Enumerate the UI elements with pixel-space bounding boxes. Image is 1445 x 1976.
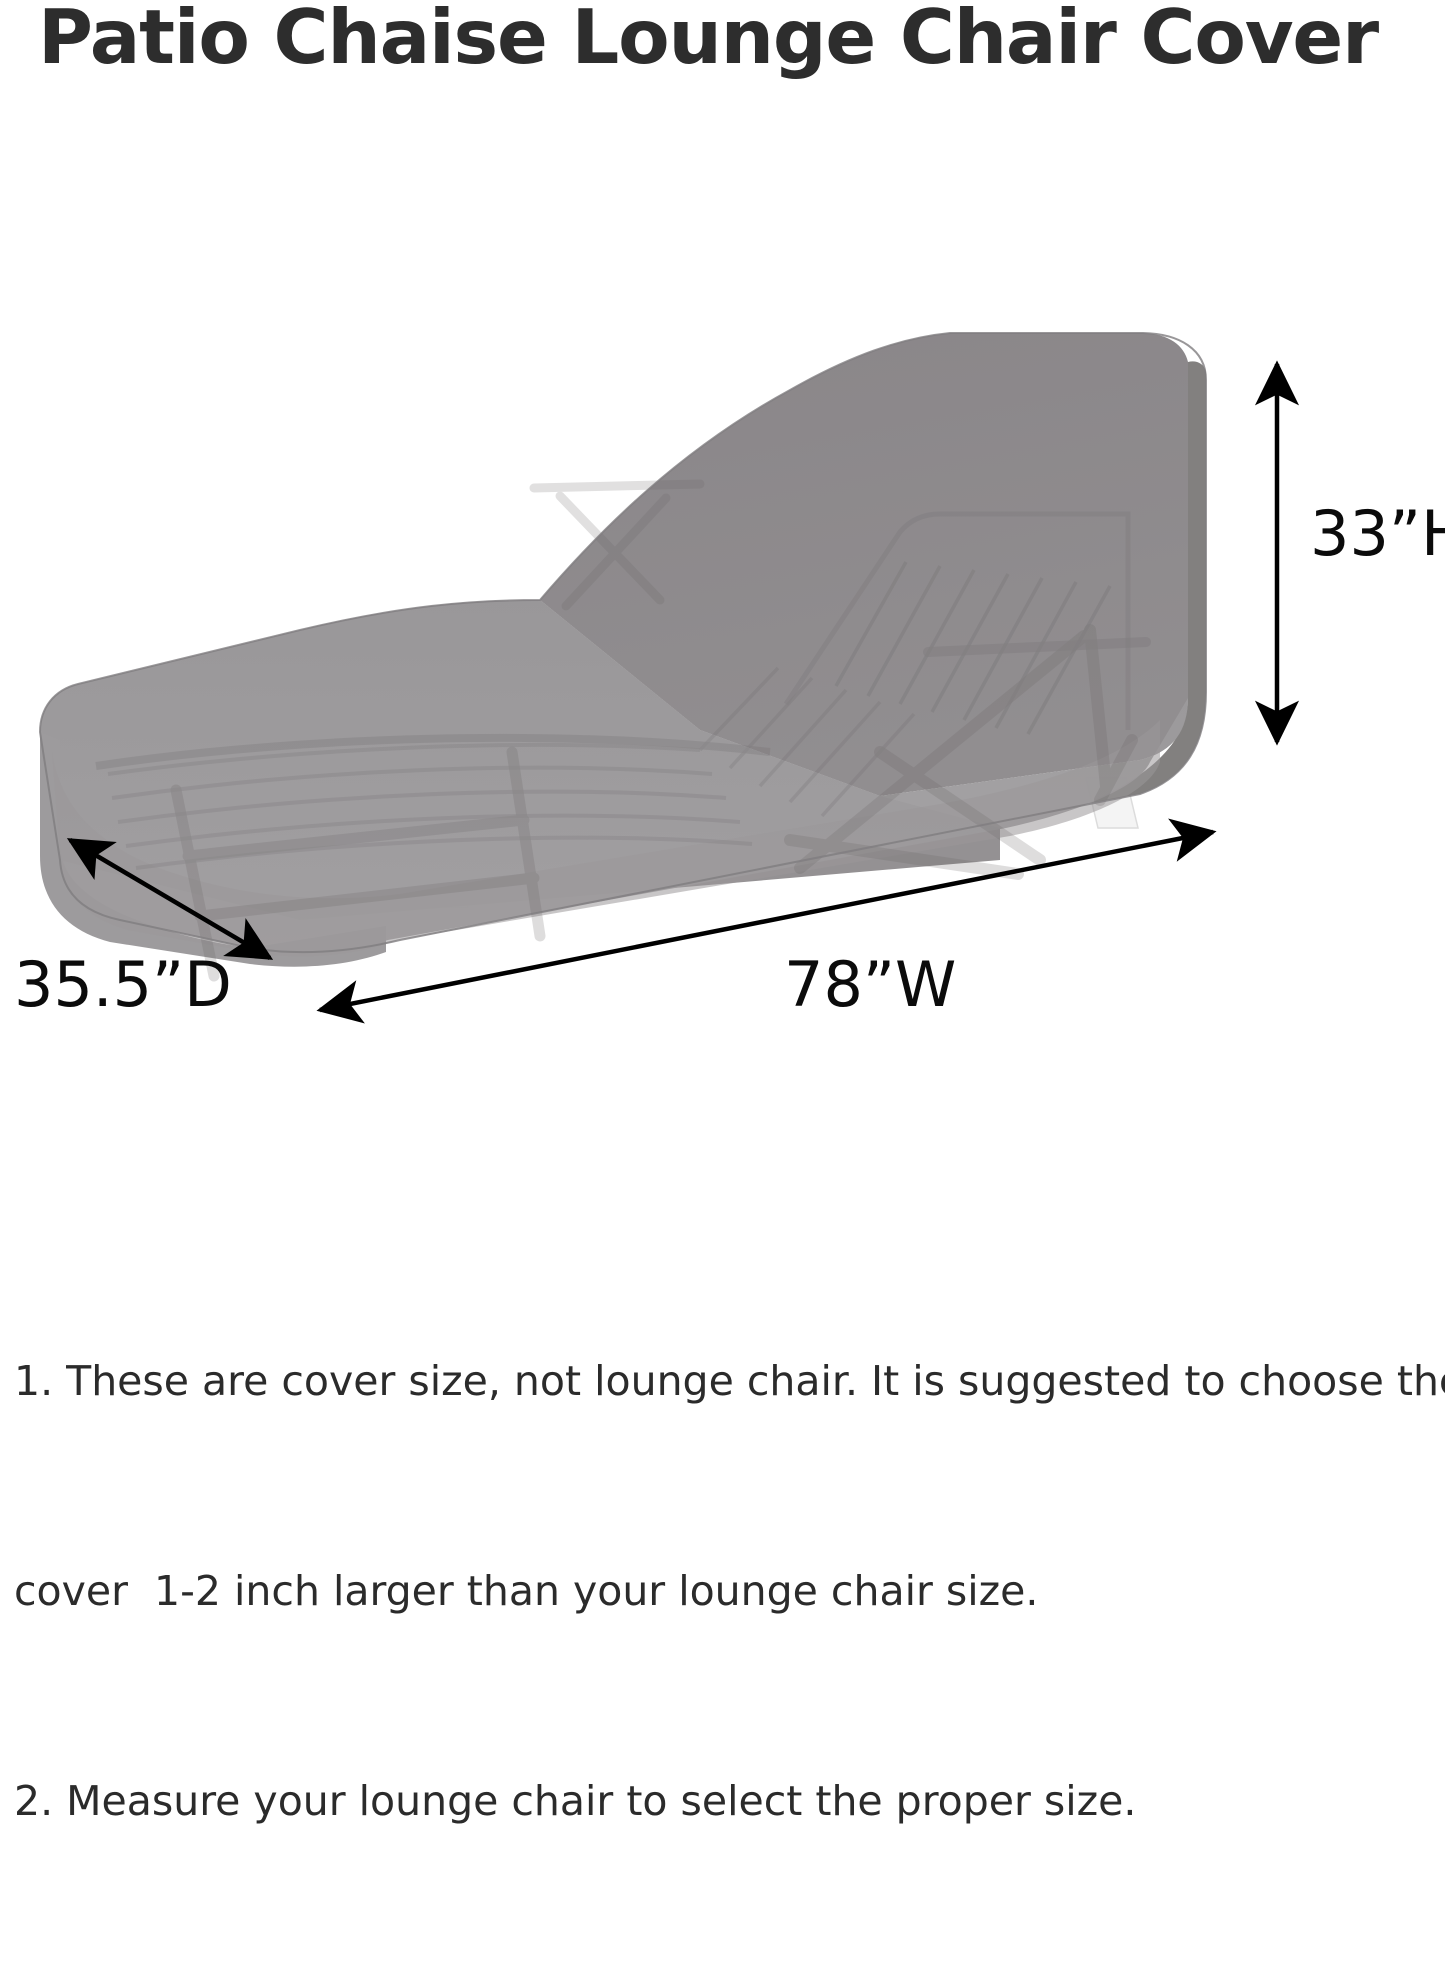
note-line-3: 2. Measure your lounge chair to select t… — [14, 1766, 1434, 1836]
width-dimension-label: 78”W — [784, 948, 956, 1021]
height-dimension-label: 33”H — [1310, 497, 1445, 570]
note-line-1: 1. These are cover size, not lounge chai… — [14, 1346, 1434, 1416]
sizing-notes: 1. These are cover size, not lounge chai… — [14, 1206, 1434, 1976]
note-line-2: cover 1-2 inch larger than your lounge c… — [14, 1556, 1434, 1626]
chaise-lounge-cover-drawing — [0, 300, 1445, 1060]
page-title: Patio Chaise Lounge Chair Cover — [38, 0, 1438, 80]
product-illustration — [0, 300, 1445, 1060]
depth-dimension-label: 35.5”D — [14, 948, 232, 1021]
product-dimension-sheet: Patio Chaise Lounge Chair Cover — [0, 0, 1445, 1418]
